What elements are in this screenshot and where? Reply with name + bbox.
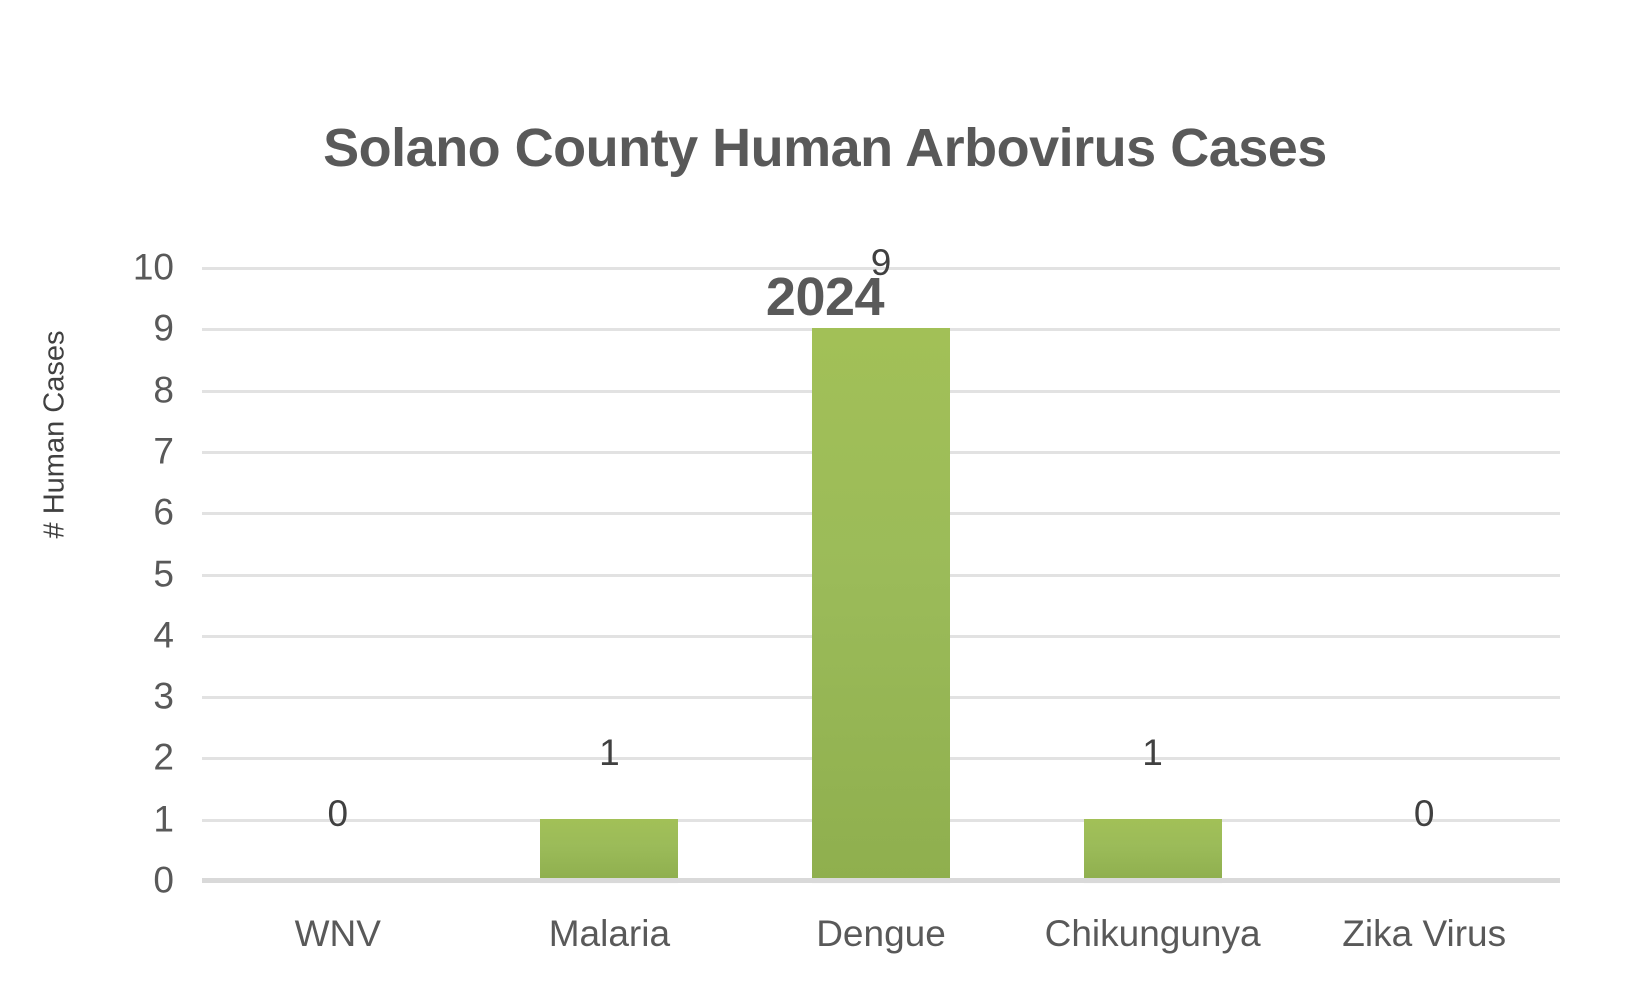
y-tick-label-6: 6 [54, 494, 174, 531]
value-label-wnv: 0 [238, 795, 438, 832]
y-tick-label-2: 2 [54, 739, 174, 776]
x-category-label-malaria: Malaria [459, 915, 759, 952]
value-label-malaria: 1 [509, 734, 709, 771]
chart-title-line-1: Solano County Human Arbovirus Cases [0, 111, 1650, 186]
y-tick-label-7: 7 [54, 432, 174, 469]
x-category-label-zika-virus: Zika Virus [1274, 915, 1574, 952]
bar-chart: Solano County Human Arbovirus Cases 2024… [0, 0, 1650, 990]
value-label-zika-virus: 0 [1324, 795, 1524, 832]
x-category-label-wnv: WNV [188, 915, 488, 952]
value-label-dengue: 9 [781, 244, 981, 281]
y-tick-label-0: 0 [54, 862, 174, 899]
bar-chikungunya[interactable] [1084, 819, 1222, 880]
x-category-label-dengue: Dengue [731, 915, 1031, 952]
y-tick-label-4: 4 [54, 616, 174, 653]
y-tick-label-8: 8 [54, 371, 174, 408]
y-tick-label-3: 3 [54, 678, 174, 715]
y-tick-label-9: 9 [54, 310, 174, 347]
bar-dengue[interactable] [812, 328, 950, 880]
y-tick-label-5: 5 [54, 555, 174, 592]
bar-malaria[interactable] [540, 819, 678, 880]
value-label-chikungunya: 1 [1053, 734, 1253, 771]
x-axis-line [202, 878, 1560, 883]
y-tick-label-1: 1 [54, 800, 174, 837]
plot-area: 0 1 9 1 0 [202, 267, 1560, 880]
y-tick-label-10: 10 [54, 249, 174, 286]
x-category-label-chikungunya: Chikungunya [1003, 915, 1303, 952]
